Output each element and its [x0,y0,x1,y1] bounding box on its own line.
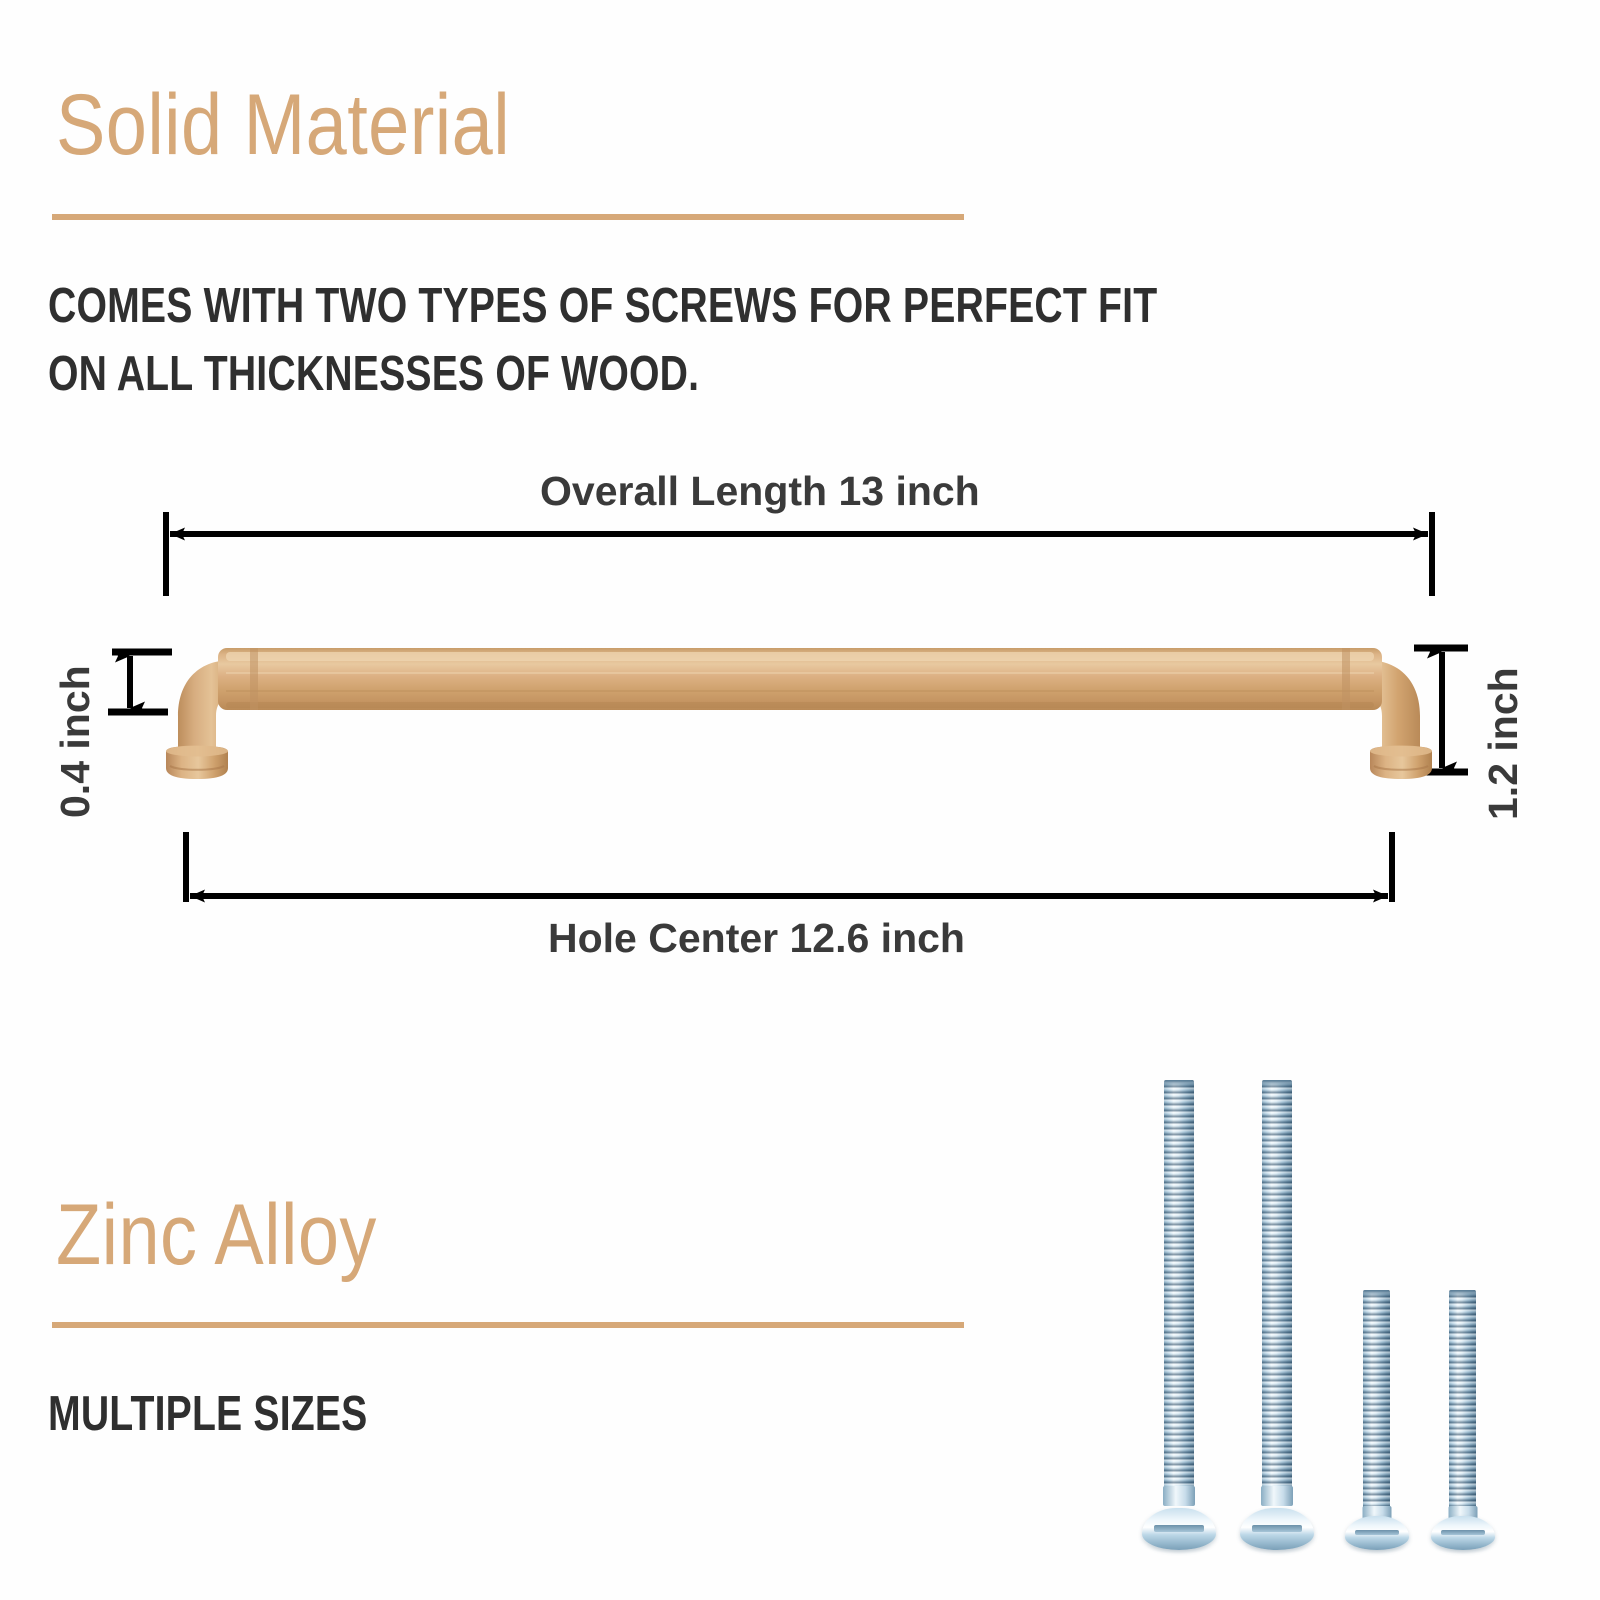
infographic-page: Solid Material COMES WITH TWO TYPES OF S… [0,0,1600,1600]
screw-head [1240,1508,1314,1550]
short-screw-2 [1446,1290,1480,1550]
screw-head [1142,1508,1216,1550]
zinc-alloy-divider [52,1322,964,1328]
long-screw-2 [1258,1080,1296,1550]
multiple-sizes-text: MULTIPLE SIZES [48,1380,1008,1448]
short-screw-1 [1360,1290,1394,1550]
long-screw-1 [1160,1080,1198,1550]
screw-head [1431,1516,1495,1550]
screws-group [1120,1040,1540,1550]
handle-bar [218,648,1382,710]
zinc-alloy-heading: Zinc Alloy [56,1192,377,1278]
screw-head [1345,1516,1409,1550]
